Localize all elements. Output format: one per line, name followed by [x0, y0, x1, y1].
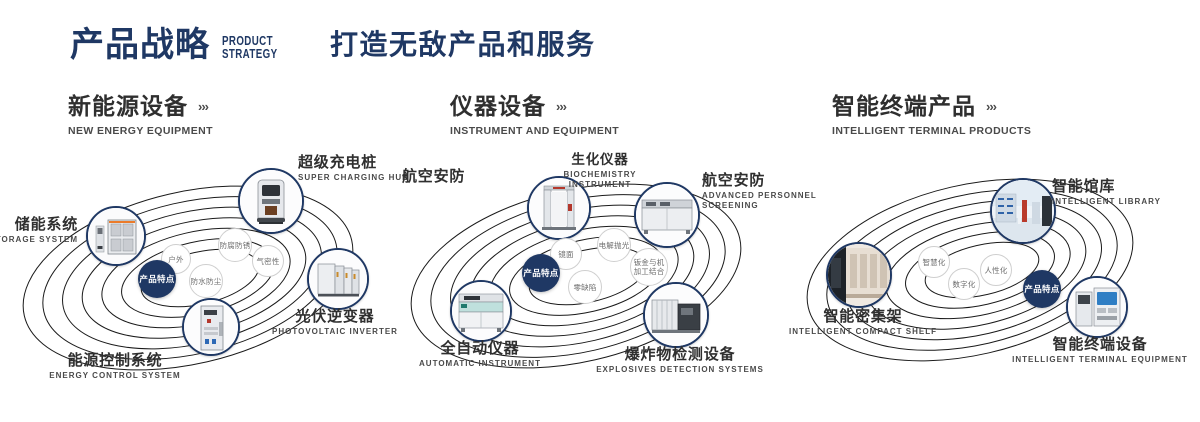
label-aviation-security-left: 航空安防: [402, 168, 512, 185]
label-en: EXPLOSIVES DETECTION SYSTEMS: [585, 365, 775, 375]
smart-library-photo: [992, 180, 1054, 242]
page-title-en-line2: STRATEGY: [222, 48, 277, 61]
section-title-en: INSTRUMENT AND EQUIPMENT: [450, 125, 619, 137]
node-advanced-personnel-screening[interactable]: [634, 182, 700, 248]
label-cn: 生化仪器: [540, 152, 660, 168]
label-intelligent-terminal-equipment: 智能终端设备 INTELLIGENT TERMINAL EQUIPMENT: [1005, 336, 1195, 365]
automatic-analyzer-photo: [452, 282, 510, 340]
section-title-cn: 智能终端产品: [832, 95, 976, 118]
label-cn: 能源控制系统: [20, 352, 210, 369]
page-title-en-line1: PRODUCT: [222, 35, 277, 48]
section-title-intelligent-terminal: 智能终端产品 ››› INTELLIGENT TERMINAL PRODUCTS: [832, 95, 1031, 137]
label-en: INTELLIGENT LIBRARY: [1052, 197, 1192, 207]
label-cn: 航空安防: [402, 168, 512, 185]
label-en: ENERGY CONTROL SYSTEM: [20, 371, 210, 381]
feature-bubble: 防水防尘: [189, 264, 223, 298]
label-cn: 智能馆库: [1052, 178, 1192, 195]
section-title-cn: 新能源设备: [68, 95, 188, 118]
node-energy-storage-system[interactable]: [86, 206, 146, 266]
page-title: 产品战略 PRODUCT STRATEGY: [70, 28, 293, 62]
chevron-right-icon: ›››: [556, 99, 566, 114]
label-energy-storage-system: 储能系统 ENERGY STORAGE SYSTEM: [0, 216, 78, 245]
section-title-en: NEW ENERGY EQUIPMENT: [68, 125, 213, 137]
chevron-right-icon: ›››: [198, 99, 208, 114]
chevron-right-icon: ›››: [986, 99, 996, 114]
node-intelligent-compact-shelf[interactable]: [826, 242, 892, 308]
control-cabinet-photo: [184, 300, 238, 354]
node-energy-control-system[interactable]: [182, 298, 240, 356]
node-automatic-instrument[interactable]: [450, 280, 512, 342]
feature-bubble: 电解抛光: [597, 228, 631, 262]
label-cn: 智能密集架: [778, 308, 948, 325]
cluster-intelligent-terminal-products: 智能馆库 INTELLIGENT LIBRARY 智能密集架 INTELLIGE…: [790, 150, 1190, 400]
battery-cabinet-photo: [88, 208, 144, 264]
explosive-detector-photo: [645, 284, 707, 346]
page-title-en: PRODUCT STRATEGY: [222, 35, 277, 60]
compact-shelf-photo: [828, 244, 890, 306]
page-title-cn: 产品战略: [70, 28, 210, 62]
page-subtitle: 打造无敌产品和服务: [330, 30, 596, 61]
feature-bubble: 数字化: [948, 268, 980, 300]
node-super-charging-hub[interactable]: [238, 168, 304, 234]
cluster-new-energy-equipment: 储能系统 ENERGY STORAGE SYSTEM 超级充电桩 SUPER C…: [0, 150, 400, 400]
section-title-instrument: 仪器设备 ››› INSTRUMENT AND EQUIPMENT: [450, 95, 619, 137]
label-cn: 爆炸物检测设备: [585, 346, 775, 363]
label-en: ENERGY STORAGE SYSTEM: [0, 235, 78, 245]
label-intelligent-library: 智能馆库 INTELLIGENT LIBRARY: [1052, 178, 1192, 207]
label-explosives-detection: 爆炸物检测设备 EXPLOSIVES DETECTION SYSTEMS: [585, 346, 775, 375]
label-en: AUTOMATIC INSTRUMENT: [400, 359, 560, 369]
label-cn: 全自动仪器: [400, 340, 560, 357]
feature-bubble: 气密性: [252, 245, 284, 277]
feature-bubble: 钣金与机加工结合: [630, 248, 668, 286]
node-intelligent-library[interactable]: [990, 178, 1056, 244]
core-bubble-product-features: 产品特点: [1023, 270, 1061, 308]
label-intelligent-compact-shelf: 智能密集架 INTELLIGENT COMPACT SHELF: [778, 308, 948, 337]
label-automatic-instrument: 全自动仪器 AUTOMATIC INSTRUMENT: [400, 340, 560, 369]
section-title-en: INTELLIGENT TERMINAL PRODUCTS: [832, 125, 1031, 137]
screening-machine-photo: [636, 184, 698, 246]
node-photovoltaic-inverter[interactable]: [307, 248, 369, 310]
core-bubble-product-features: 产品特点: [522, 254, 560, 292]
label-energy-control-system: 能源控制系统 ENERGY CONTROL SYSTEM: [20, 352, 210, 381]
inverter-cabinet-photo: [309, 250, 367, 308]
label-cn: 储能系统: [0, 216, 78, 233]
charging-pile-photo: [240, 170, 302, 232]
feature-bubble: 智慧化: [918, 246, 950, 278]
label-cn: 智能终端设备: [1005, 336, 1195, 353]
core-bubble-product-features: 产品特点: [138, 260, 176, 298]
section-title-new-energy: 新能源设备 ››› NEW ENERGY EQUIPMENT: [68, 95, 213, 137]
label-en: INTELLIGENT TERMINAL EQUIPMENT: [1005, 355, 1195, 365]
label-en: INTELLIGENT COMPACT SHELF: [778, 327, 948, 337]
node-intelligent-terminal-equipment[interactable]: [1066, 276, 1128, 338]
feature-bubble: 零缺陷: [568, 270, 602, 304]
feature-bubble: 人性化: [980, 254, 1012, 286]
product-strategy-infographic: 产品战略 PRODUCT STRATEGY 打造无敌产品和服务 新能源设备 ››…: [0, 0, 1200, 422]
self-service-kiosk-photo: [1068, 278, 1126, 336]
section-title-cn: 仪器设备: [450, 95, 546, 118]
feature-bubble: 防腐防锈: [218, 228, 252, 262]
node-explosives-detection[interactable]: [643, 282, 709, 348]
cluster-instrument-and-equipment: 生化仪器 BIOCHEMISTRY INSTRUMENT 航空安防 航空安防 A…: [390, 150, 790, 400]
